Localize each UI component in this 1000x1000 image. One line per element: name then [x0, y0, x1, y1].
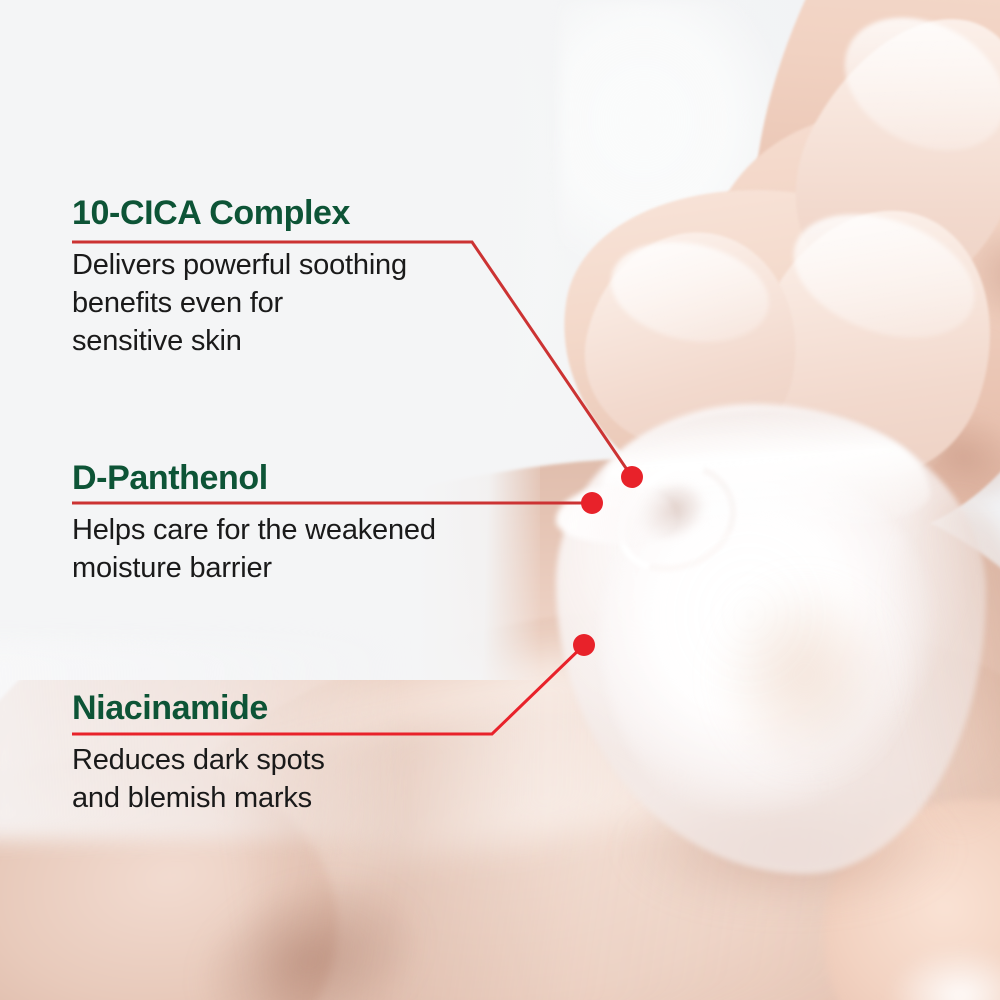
corner-highlight	[880, 930, 1000, 1000]
feature-heading-panthenol: D-Panthenol	[72, 461, 436, 496]
feature-heading-niacinamide: Niacinamide	[72, 691, 325, 726]
feature-body-line: Helps care for the weakened	[72, 512, 436, 550]
feature-body-niacinamide: Reduces dark spots and blemish marks	[72, 742, 325, 817]
infographic-canvas: 10-CICA Complex Delivers powerful soothi…	[0, 0, 1000, 1000]
feature-body-line: sensitive skin	[72, 323, 407, 361]
feature-heading-cica: 10-CICA Complex	[72, 196, 407, 231]
feature-block-panthenol: D-Panthenol Helps care for the weakened …	[72, 461, 436, 588]
feature-body-line: and blemish marks	[72, 780, 325, 818]
feature-block-cica: 10-CICA Complex Delivers powerful soothi…	[72, 196, 407, 360]
feature-body-line: Reduces dark spots	[72, 742, 325, 780]
feature-body-line: Delivers powerful soothing	[72, 247, 407, 285]
cream-skin-tint	[700, 560, 910, 790]
cream-tail	[556, 486, 676, 544]
feature-body-line: benefits even for	[72, 285, 407, 323]
feature-body-panthenol: Helps care for the weakened moisture bar…	[72, 512, 436, 587]
feature-body-cica: Delivers powerful soothing benefits even…	[72, 247, 407, 360]
feature-block-niacinamide: Niacinamide Reduces dark spots and blemi…	[72, 691, 325, 818]
feature-body-line: moisture barrier	[72, 550, 436, 588]
